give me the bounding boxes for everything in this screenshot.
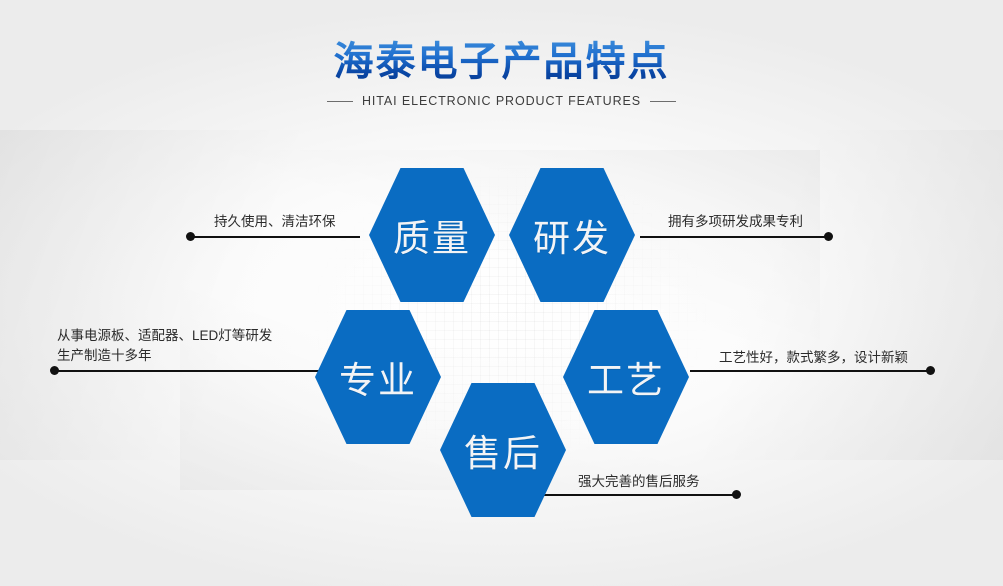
page-subtitle: HITAI ELECTRONIC PRODUCT FEATURES — [362, 94, 641, 108]
connector-dot-after-sales — [732, 490, 741, 499]
connector-dot-quality — [186, 232, 195, 241]
hexagon-label-professional: 专业 — [339, 350, 417, 404]
subtitle-rule-left — [327, 101, 353, 102]
hexagon-quality[interactable]: 质量 — [369, 168, 495, 302]
connector-line-quality — [190, 236, 360, 238]
connector-line-craft — [690, 370, 932, 372]
hexagon-after-sales[interactable]: 售后 — [440, 383, 566, 517]
hexagon-label-craft: 工艺 — [587, 350, 665, 404]
hexagon-label-rd: 研发 — [533, 208, 611, 262]
connector-dot-rd — [824, 232, 833, 241]
page-title: 海泰电子产品特点 — [0, 38, 1003, 86]
connector-line-professional — [56, 370, 348, 372]
subtitle-rule-right — [650, 101, 676, 102]
feature-infographic: 海泰电子产品特点 HITAI ELECTRONIC PRODUCT FEATUR… — [0, 0, 1003, 586]
subtitle-row: HITAI ELECTRONIC PRODUCT FEATURES — [0, 94, 1003, 108]
hexagon-rd[interactable]: 研发 — [509, 168, 635, 302]
hexagon-label-quality: 质量 — [393, 208, 471, 262]
caption-professional-line2: 生产制造十多年 — [57, 346, 272, 366]
connector-line-rd — [640, 236, 830, 238]
connector-dot-professional — [50, 366, 59, 375]
hexagon-professional[interactable]: 专业 — [315, 310, 441, 444]
caption-after-sales: 强大完善的售后服务 — [578, 472, 700, 491]
caption-professional-line1: 从事电源板、适配器、LED灯等研发 — [57, 326, 272, 346]
caption-rd: 拥有多项研发成果专利 — [668, 212, 803, 231]
header: 海泰电子产品特点 HITAI ELECTRONIC PRODUCT FEATUR… — [0, 38, 1003, 108]
caption-craft: 工艺性好，款式繁多，设计新颖 — [719, 348, 908, 367]
hexagon-label-after-sales: 售后 — [464, 423, 542, 477]
hexagon-craft[interactable]: 工艺 — [563, 310, 689, 444]
caption-quality: 持久使用、清洁环保 — [214, 212, 336, 231]
connector-dot-craft — [926, 366, 935, 375]
caption-professional: 从事电源板、适配器、LED灯等研发 生产制造十多年 — [57, 326, 272, 366]
